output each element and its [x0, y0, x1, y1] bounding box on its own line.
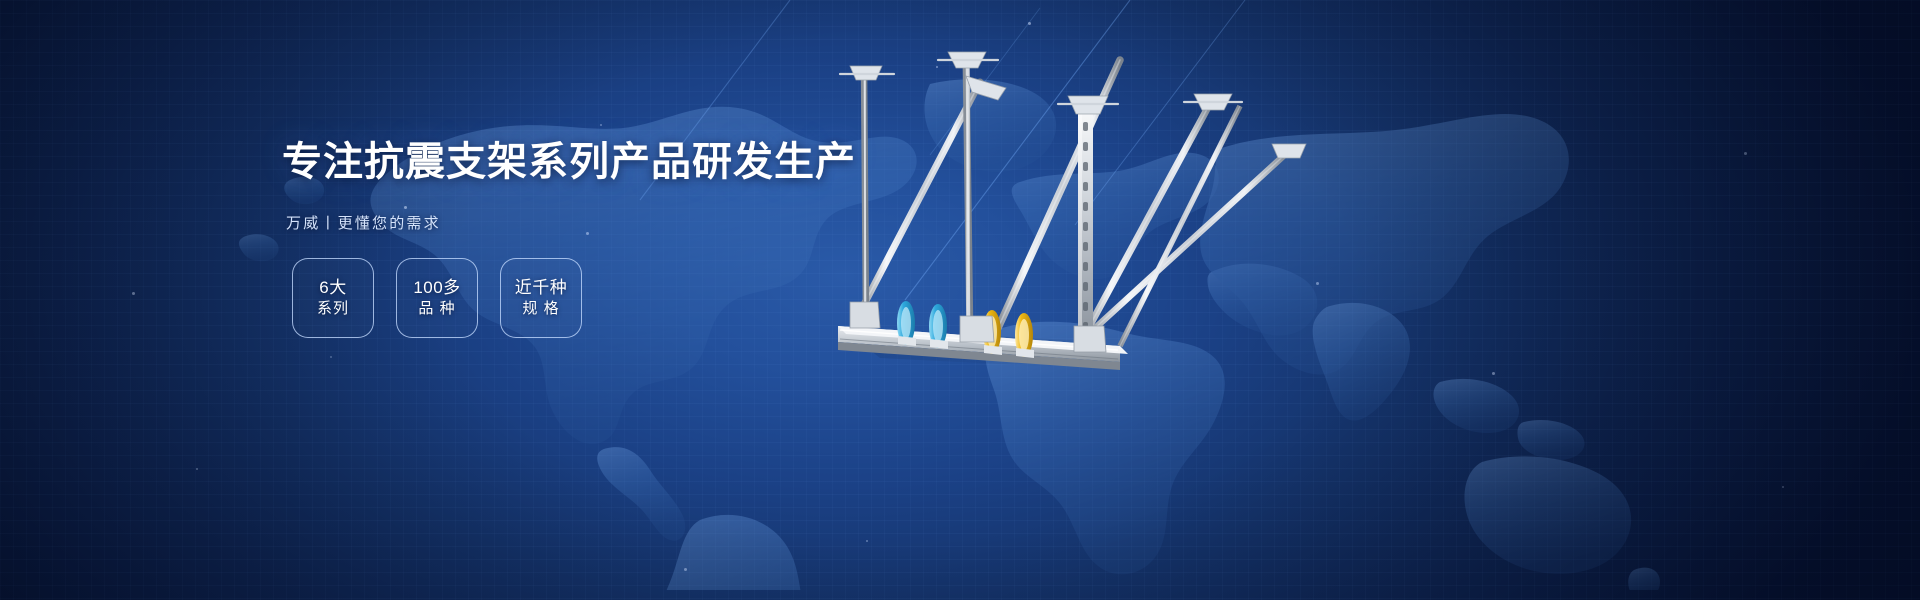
badge-series[interactable]: 6大 系列 [292, 258, 374, 338]
light-streaks-decor [0, 0, 1920, 600]
badge-varieties-label: 品 种 [418, 299, 455, 319]
hero-banner: 专注抗震支架系列产品研发生产 万威丨更懂您的需求 6大 系列 100多 品 种 … [0, 0, 1920, 600]
seismic-bracket-product-image [820, 40, 1480, 440]
badge-specifications[interactable]: 近千种 规 格 [500, 258, 582, 338]
background-grid-vertical [0, 0, 1920, 600]
banner-copy: 专注抗震支架系列产品研发生产 万威丨更懂您的需求 [282, 140, 842, 233]
badge-series-value: 6大 [319, 277, 346, 299]
badge-specifications-label: 规 格 [522, 299, 559, 319]
star-particles-decor [0, 0, 1920, 600]
badge-series-label: 系列 [317, 299, 349, 319]
badge-varieties[interactable]: 100多 品 种 [396, 258, 478, 338]
vignette-overlay [0, 0, 1920, 600]
badge-varieties-value: 100多 [413, 277, 460, 299]
feature-badges: 6大 系列 100多 品 种 近千种 规 格 [292, 258, 582, 338]
banner-subtitle: 万威丨更懂您的需求 [286, 212, 842, 233]
background-grid-horizontal [0, 0, 1920, 600]
page-title: 专注抗震支架系列产品研发生产 [282, 140, 842, 184]
badge-specifications-value: 近千种 [515, 277, 568, 299]
